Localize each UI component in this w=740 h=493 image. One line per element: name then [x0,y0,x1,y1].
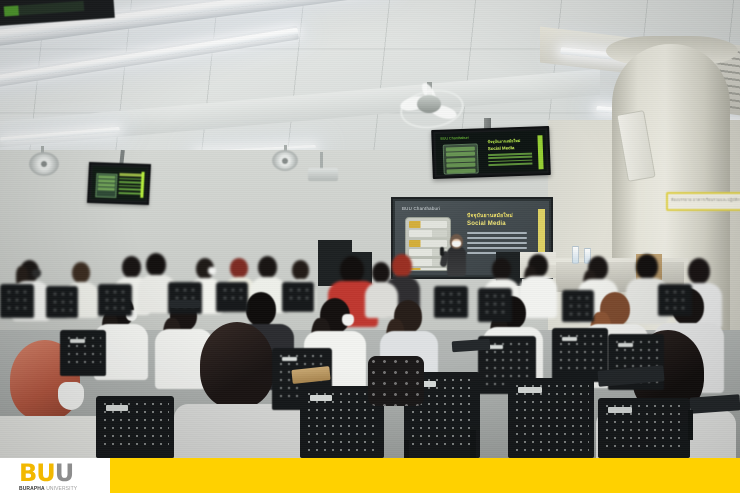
monitor-right-accent-bar [537,135,543,169]
lecture-chair[interactable] [60,330,106,376]
lecture-chair[interactable] [98,284,132,316]
logo-letter-u2: U [55,459,74,487]
chair-tablet-arm [170,300,200,308]
buu-wordmark: BUU [19,461,94,485]
logo-name-thai: BURAPHA [19,486,45,492]
wall-monitor-right: BUU Chanthaburi ปัจจุบันยานสมัยใหม่ Soci… [431,126,551,179]
column-sign-label: ห้องบรรยาย อาคารเรียนรวมและปฏิบัติการ [671,194,739,204]
lecture-chair[interactable] [0,284,34,318]
lecture-chair-foreground[interactable] [96,396,174,458]
lecture-chair-foreground[interactable] [508,378,594,458]
monitor-right-header: BUU Chanthaburi [440,136,468,141]
lecture-chair[interactable] [562,290,594,322]
slide-title-thai: ปัจจุบันยานสมัยใหม่ [467,212,513,220]
monitor-left-accent-bar [140,172,144,198]
slide-title-english: Social Media [467,221,506,227]
lecture-chair[interactable] [658,284,692,316]
presenter-face-mask [452,241,461,247]
wall-fan-1 [29,152,59,176]
chair-tablet-arm [690,394,740,413]
water-bottle-1 [572,246,579,264]
monitor-right-phone-graphic [443,143,479,174]
chair-leg [470,430,476,458]
logo-letter-b: B [19,459,36,487]
lecture-chair-foreground[interactable] [598,398,690,458]
lecture-chair[interactable] [434,286,468,318]
wall-monitor-left-screen [91,166,147,201]
wall-monitor-left [87,162,151,205]
monitor-right-body-lines [488,153,532,168]
screenshot-frame: ห้องบรรยาย อาคารเรียนรวมและปฏิบัติการ BU… [0,0,740,493]
lecture-chair[interactable] [168,282,202,314]
column-sign: ห้องบรรยาย อาคารเรียนรวมและปฏิบัติการ [666,192,740,211]
buu-logo: BUU BURAPHA UNIVERSITY BURAPHA UNIVERSIT… [19,461,94,493]
backpack [368,356,424,406]
monitor-right-title-english: Social Media [488,145,515,151]
logo-letter-u1: U [36,459,55,487]
monitor-left-phone-graphic [95,173,117,198]
chair-leg [404,440,409,458]
slide-header: BUU Chanthaburi [402,206,440,211]
photograph: ห้องบรรยาย อาคารเรียนรวมและปฏิบัติการ BU… [0,0,740,458]
wall-monitor-right-screen: BUU Chanthaburi ปัจจุบันยานสมัยใหม่ Soci… [435,130,546,175]
presenter-body [447,246,466,276]
presenter-microphone [440,247,444,256]
lecture-chair[interactable] [216,282,248,312]
lecture-chair[interactable] [46,286,78,318]
logo-name-english: UNIVERSITY [45,486,78,492]
lecture-chair[interactable] [478,288,512,322]
monitor-right-title-thai: ปัจจุบันยานสมัยใหม่ [488,138,521,145]
overhead-monitor-topleft-screen [4,1,85,17]
wall-fan-2 [272,150,298,171]
ceiling-fan-hub [417,95,441,113]
chair-leg [688,410,693,440]
logo-university-name: BURAPHA UNIVERSITY [19,486,94,492]
lecture-chair[interactable] [282,282,314,312]
logo-block: BUU BURAPHA UNIVERSITY BURAPHA UNIVERSIT… [0,458,110,493]
projector [308,168,338,181]
brand-banner: BUU BURAPHA UNIVERSITY BURAPHA UNIVERSIT… [0,458,740,493]
